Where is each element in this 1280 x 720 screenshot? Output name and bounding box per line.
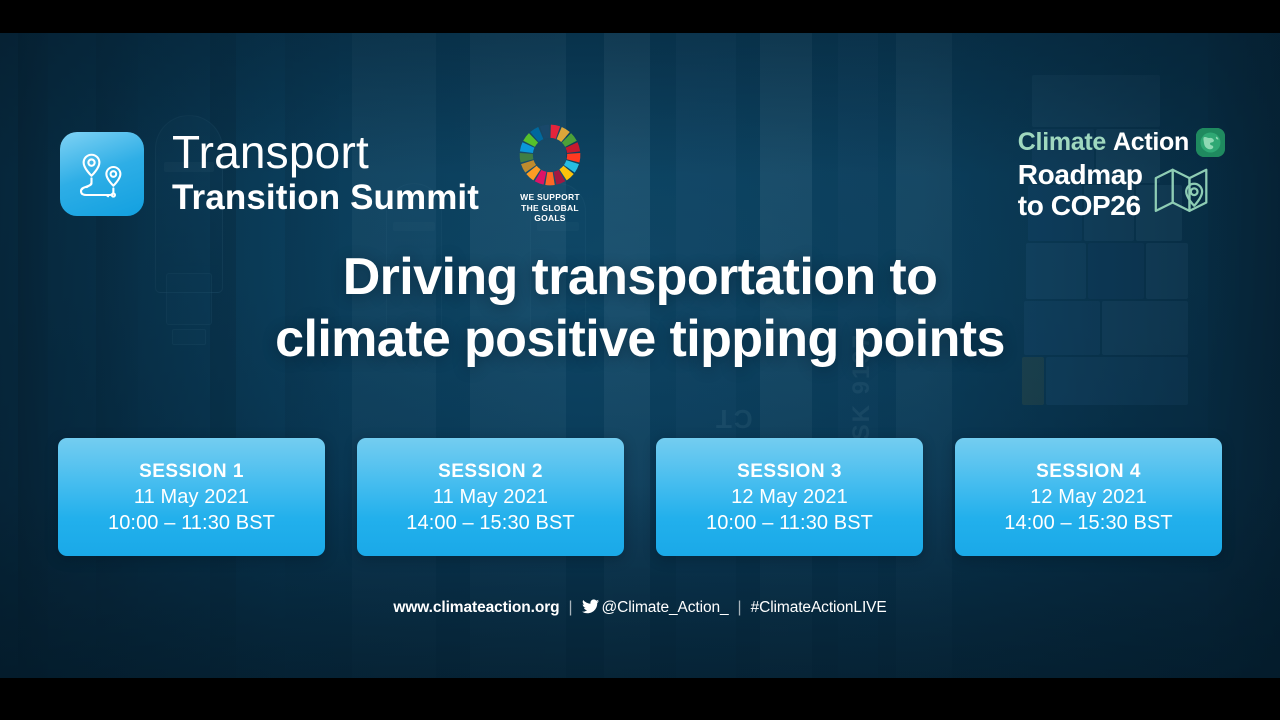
climate-action-roadmap-logo: Climate Action Roadmap to COP [1018, 128, 1225, 221]
session-card-date: 11 May 2021 [134, 484, 249, 510]
slide-title-line1: Driving transportation to [0, 246, 1280, 308]
route-map-pins-icon [74, 146, 130, 202]
presentation-slide: CT MSK 9197 [0, 33, 1280, 678]
footer-separator: | [738, 598, 742, 618]
roadmap-line2: to COP26 [1018, 190, 1143, 221]
slide-header: Transport Transition Summit WE SUPPORT T… [0, 33, 1280, 203]
sdg-color-wheel-icon [517, 122, 583, 188]
session-card-2[interactable]: SESSION 2 11 May 2021 14:00 – 15:30 BST [357, 438, 624, 556]
twitter-handle-group[interactable]: @Climate_Action_ [582, 598, 729, 618]
session-cards: SESSION 1 11 May 2021 10:00 – 11:30 BST … [58, 438, 1222, 556]
website-link[interactable]: www.climateaction.org [393, 598, 559, 618]
sdg-caption: WE SUPPORT THE GLOBAL GOALS [509, 192, 591, 224]
logo-title-line2: Transition Summit [172, 178, 479, 218]
slide-title: Driving transportation to climate positi… [0, 246, 1280, 370]
folded-map-pin-icon [1153, 166, 1211, 214]
session-card-title: SESSION 1 [139, 460, 244, 484]
session-card-title: SESSION 3 [737, 460, 842, 484]
twitter-handle: @Climate_Action_ [602, 599, 729, 616]
slide-footer: www.climateaction.org | @Climate_Action_… [0, 598, 1280, 618]
transport-logo-text: Transport Transition Summit [172, 126, 479, 218]
letterbox-top [0, 0, 1280, 33]
session-card-time: 10:00 – 11:30 BST [706, 510, 873, 536]
session-card-date: 12 May 2021 [1030, 484, 1147, 510]
logo-title-line1: Transport [172, 126, 479, 178]
sdg-support-badge: WE SUPPORT THE GLOBAL GOALS [509, 122, 591, 218]
event-hashtag: #ClimateActionLIVE [751, 598, 887, 618]
session-card-title: SESSION 4 [1036, 460, 1141, 484]
session-card-1[interactable]: SESSION 1 11 May 2021 10:00 – 11:30 BST [58, 438, 325, 556]
footer-separator: | [569, 598, 573, 618]
sdg-caption-line2: THE GLOBAL GOALS [509, 203, 591, 224]
session-card-3[interactable]: SESSION 3 12 May 2021 10:00 – 11:30 BST [656, 438, 923, 556]
slide-title-line2: climate positive tipping points [0, 308, 1280, 370]
climate-word: Climate [1018, 128, 1106, 157]
slide-stage: CT MSK 9197 [0, 0, 1280, 720]
twitter-bird-icon [582, 599, 599, 614]
session-card-4[interactable]: SESSION 4 12 May 2021 14:00 – 15:30 BST [955, 438, 1222, 556]
roadmap-line1: Roadmap [1018, 159, 1143, 190]
transport-logo-badge [60, 132, 144, 216]
globe-icon [1196, 128, 1225, 157]
session-card-date: 11 May 2021 [433, 484, 548, 510]
letterbox-bottom [0, 678, 1280, 720]
sdg-wheel-segment [545, 172, 554, 185]
session-card-time: 10:00 – 11:30 BST [108, 510, 275, 536]
sdg-caption-line1: WE SUPPORT [509, 192, 591, 203]
session-card-time: 14:00 – 15:30 BST [406, 510, 575, 536]
session-card-time: 14:00 – 15:30 BST [1004, 510, 1173, 536]
action-word: Action [1113, 128, 1189, 157]
session-card-title: SESSION 2 [438, 460, 543, 484]
session-card-date: 12 May 2021 [731, 484, 848, 510]
